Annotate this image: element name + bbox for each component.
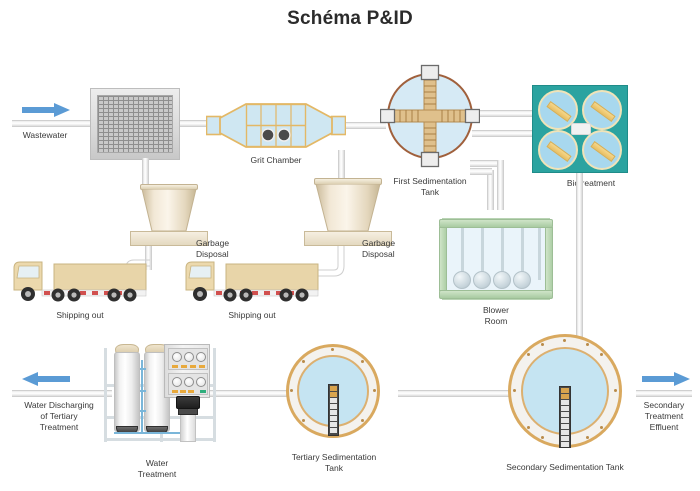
pipe-inlet	[12, 120, 98, 127]
wt-led-5	[172, 390, 178, 393]
wt-led-status-ok	[200, 390, 206, 393]
biotreatment-aerator-2	[590, 101, 615, 122]
secondary-rung-10	[561, 442, 569, 447]
wt-led-7	[188, 390, 194, 393]
tertiary-rung-5	[330, 410, 337, 415]
tertiary-rung-6	[330, 416, 337, 421]
secondary-rung-9	[561, 436, 569, 441]
label-biotreatment: Biotreatment	[546, 178, 636, 189]
secondary-tank-marker-nne	[586, 343, 589, 346]
tertiary-tank-marker-se	[361, 419, 364, 422]
biotreatment[interactable]	[532, 85, 628, 173]
water-treatment[interactable]	[104, 338, 216, 456]
biotreatment-aerator-1	[546, 101, 571, 122]
pid-diagram-canvas: Schéma P&ID Wastewater	[0, 0, 700, 491]
wt-pump[interactable]	[176, 396, 200, 409]
tertiary-rung-1	[330, 386, 337, 391]
biotreatment-unit-3	[538, 130, 578, 170]
label-secondary-treatment-effluent: Secondary Treatment Effluent	[630, 400, 698, 433]
secondary-sedimentation-tank[interactable]	[508, 334, 622, 448]
wt-gauge-2	[184, 352, 194, 362]
tertiary-tank-marker-nw	[302, 360, 305, 363]
pipe-sed1-to-blower-v2	[487, 170, 494, 210]
secondary-tank-marker-nnw	[541, 343, 544, 346]
first-sedimentation-tank[interactable]	[380, 64, 480, 168]
flow-arrow-tertiary-discharge	[22, 372, 70, 386]
pipe-bio-to-sed2	[576, 173, 583, 358]
blower-stem-5	[538, 228, 541, 280]
secondary-tank-marker-ne	[600, 353, 603, 356]
pipe-wt-to-tertiary	[206, 390, 292, 397]
secondary-tank-marker-n	[563, 339, 566, 342]
label-blower-room: Blower Room	[452, 305, 540, 327]
wt-led-4	[199, 365, 205, 368]
pipe-tertiary-discharge	[12, 390, 112, 397]
biotreatment-aerator-4	[590, 141, 615, 162]
secondary-tank-marker-e	[614, 389, 617, 392]
tertiary-tank-marker-e	[373, 389, 376, 392]
label-shipping-out-1: Shipping out	[28, 310, 132, 321]
shipping-truck-1[interactable]	[8, 256, 154, 302]
blower-unit-4	[513, 271, 531, 289]
blower-room[interactable]	[442, 218, 550, 300]
pipe-sed1-to-blower-h2	[470, 168, 492, 175]
secondary-rung-7	[561, 424, 569, 429]
blower-unit-3	[493, 271, 511, 289]
secondary-tank-marker-sw	[527, 426, 530, 429]
tertiary-tank-marker-n	[331, 348, 334, 351]
blower-unit-1	[453, 271, 471, 289]
pipe-sed1-to-blower-v	[497, 160, 504, 210]
pipe-secondary-effluent	[636, 390, 692, 397]
wt-led-2	[181, 365, 187, 368]
label-garbage-disposal-2: Garbage Disposal	[362, 238, 428, 260]
secondary-rung-8	[561, 430, 569, 435]
tertiary-rung-4	[330, 404, 337, 409]
blower-unit-2	[473, 271, 491, 289]
tertiary-sedimentation-tank[interactable]	[286, 344, 380, 438]
secondary-rung-6	[561, 418, 569, 423]
secondary-rung-1	[561, 388, 569, 393]
tertiary-rung-7	[330, 422, 337, 427]
pipe-sed1-to-bio-lower	[472, 130, 534, 137]
secondary-rung-3	[561, 400, 569, 405]
blower-post-left	[439, 227, 447, 291]
wt-filter-column	[180, 414, 196, 442]
tertiary-tank-scraper	[328, 384, 339, 436]
grit-chamber[interactable]	[206, 100, 346, 150]
wt-led-3	[190, 365, 196, 368]
wt-control-panel[interactable]	[164, 344, 210, 398]
shipping-truck-2[interactable]	[180, 256, 326, 302]
tertiary-tank-marker-ne	[361, 360, 364, 363]
wt-tank-1	[114, 352, 140, 432]
wt-gauge-4	[172, 377, 182, 387]
wt-led-1	[172, 365, 178, 368]
secondary-tank-marker-sse	[586, 436, 589, 439]
pipe-sed1-to-bio-upper	[472, 110, 534, 117]
secondary-tank-marker-se	[600, 426, 603, 429]
wt-pipe-riser	[141, 360, 143, 434]
label-water-discharging: Water Discharging of Tertiary Treatment	[6, 400, 112, 433]
label-water-treatment: Water Treatment	[110, 458, 204, 480]
secondary-tank-scraper	[559, 386, 571, 448]
hopper1-body	[140, 189, 198, 232]
wt-gauge-group-bottom	[168, 373, 208, 395]
secondary-rung-2	[561, 394, 569, 399]
label-wastewater: Wastewater	[8, 130, 82, 141]
secondary-rung-5	[561, 412, 569, 417]
blower-rail-bottom	[439, 290, 553, 299]
secondary-rung-4	[561, 406, 569, 411]
secondary-tank-marker-nw	[527, 353, 530, 356]
bar-screen[interactable]	[90, 88, 180, 160]
label-shipping-out-2: Shipping out	[200, 310, 304, 321]
flow-arrow-inlet	[22, 103, 70, 117]
wt-pump-ring	[178, 408, 198, 415]
secondary-tank-marker-ssw	[541, 436, 544, 439]
wt-gauge-6	[196, 377, 206, 387]
label-grit-chamber: Grit Chamber	[212, 155, 340, 166]
page-title: Schéma P&ID	[0, 8, 700, 30]
label-tertiary-sedimentation-tank: Tertiary Sedimentation Tank	[274, 452, 394, 474]
tertiary-rung-2	[330, 392, 337, 397]
bar-screen-mesh	[97, 95, 173, 153]
biotreatment-unit-4	[582, 130, 622, 170]
hopper2-body	[314, 184, 382, 232]
biotreatment-center-junction	[571, 123, 591, 135]
tertiary-tank-marker-w	[290, 389, 293, 392]
tertiary-rung-8	[330, 428, 337, 433]
wt-gauge-1	[172, 352, 182, 362]
wt-frame-post-right	[213, 348, 216, 442]
pipe-tertiary-to-secondary	[398, 390, 510, 397]
tertiary-rung-3	[330, 398, 337, 403]
blower-rail-top	[439, 219, 553, 228]
secondary-tank-marker-w	[513, 389, 516, 392]
label-secondary-sedimentation-tank: Secondary Sedimentation Tank	[498, 462, 632, 473]
wt-gauge-group-top	[168, 348, 208, 370]
biotreatment-aerator-3	[546, 141, 571, 162]
wt-gauge-3	[196, 352, 206, 362]
label-first-sedimentation-tank: First Sedimentation Tank	[372, 176, 488, 198]
wt-gauge-5	[184, 377, 194, 387]
tertiary-tank-marker-sw	[302, 419, 305, 422]
blower-post-right	[545, 227, 553, 291]
wt-frame-post-left	[104, 348, 107, 442]
wt-led-6	[180, 390, 186, 393]
flow-arrow-secondary-effluent	[642, 372, 690, 386]
